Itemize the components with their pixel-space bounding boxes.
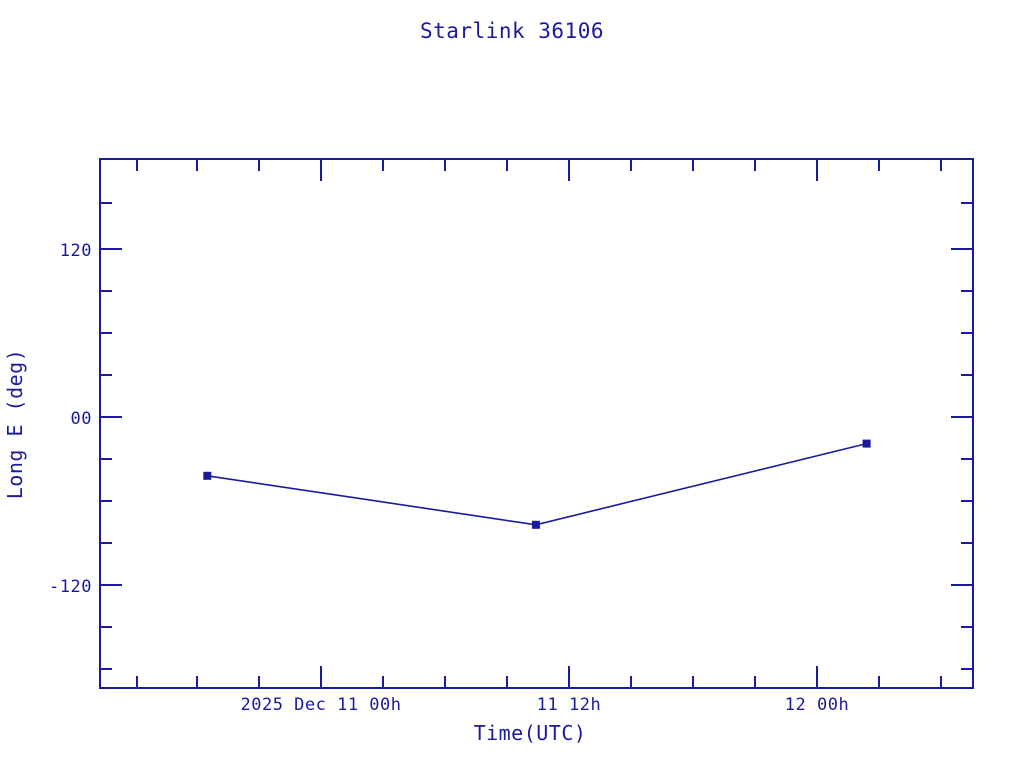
- x-tick-label-2: 12 00h: [785, 695, 849, 715]
- plot-frame: [100, 159, 973, 688]
- data-point-marker: [863, 440, 870, 447]
- y-tick-label-0: 00: [71, 409, 92, 429]
- x-axis-title: Time(UTC): [474, 721, 587, 745]
- chart-title: Starlink 36106: [420, 19, 604, 43]
- y-tick-label-120: 120: [60, 241, 92, 261]
- series-markers-long-e: [204, 440, 870, 528]
- x-tick-label-0: 2025 Dec 11 00h: [240, 695, 401, 715]
- series-line-long-e: [207, 444, 866, 525]
- y-axis-title: Long E (deg): [3, 349, 27, 500]
- x-axis-ticks-bottom: [137, 666, 941, 688]
- data-point-marker: [532, 521, 539, 528]
- x-tick-label-1: 11 12h: [537, 695, 601, 715]
- chart-figure: Starlink 36106: [0, 0, 1024, 768]
- data-series-long-e: [204, 440, 870, 528]
- x-axis-ticks-top: [137, 159, 941, 181]
- starlink-longitude-plot: Starlink 36106: [0, 0, 1024, 768]
- y-axis-ticks-left: [100, 203, 122, 669]
- y-axis-ticks-right: [951, 203, 973, 669]
- data-point-marker: [204, 472, 211, 479]
- y-tick-label-neg120: -120: [49, 577, 92, 597]
